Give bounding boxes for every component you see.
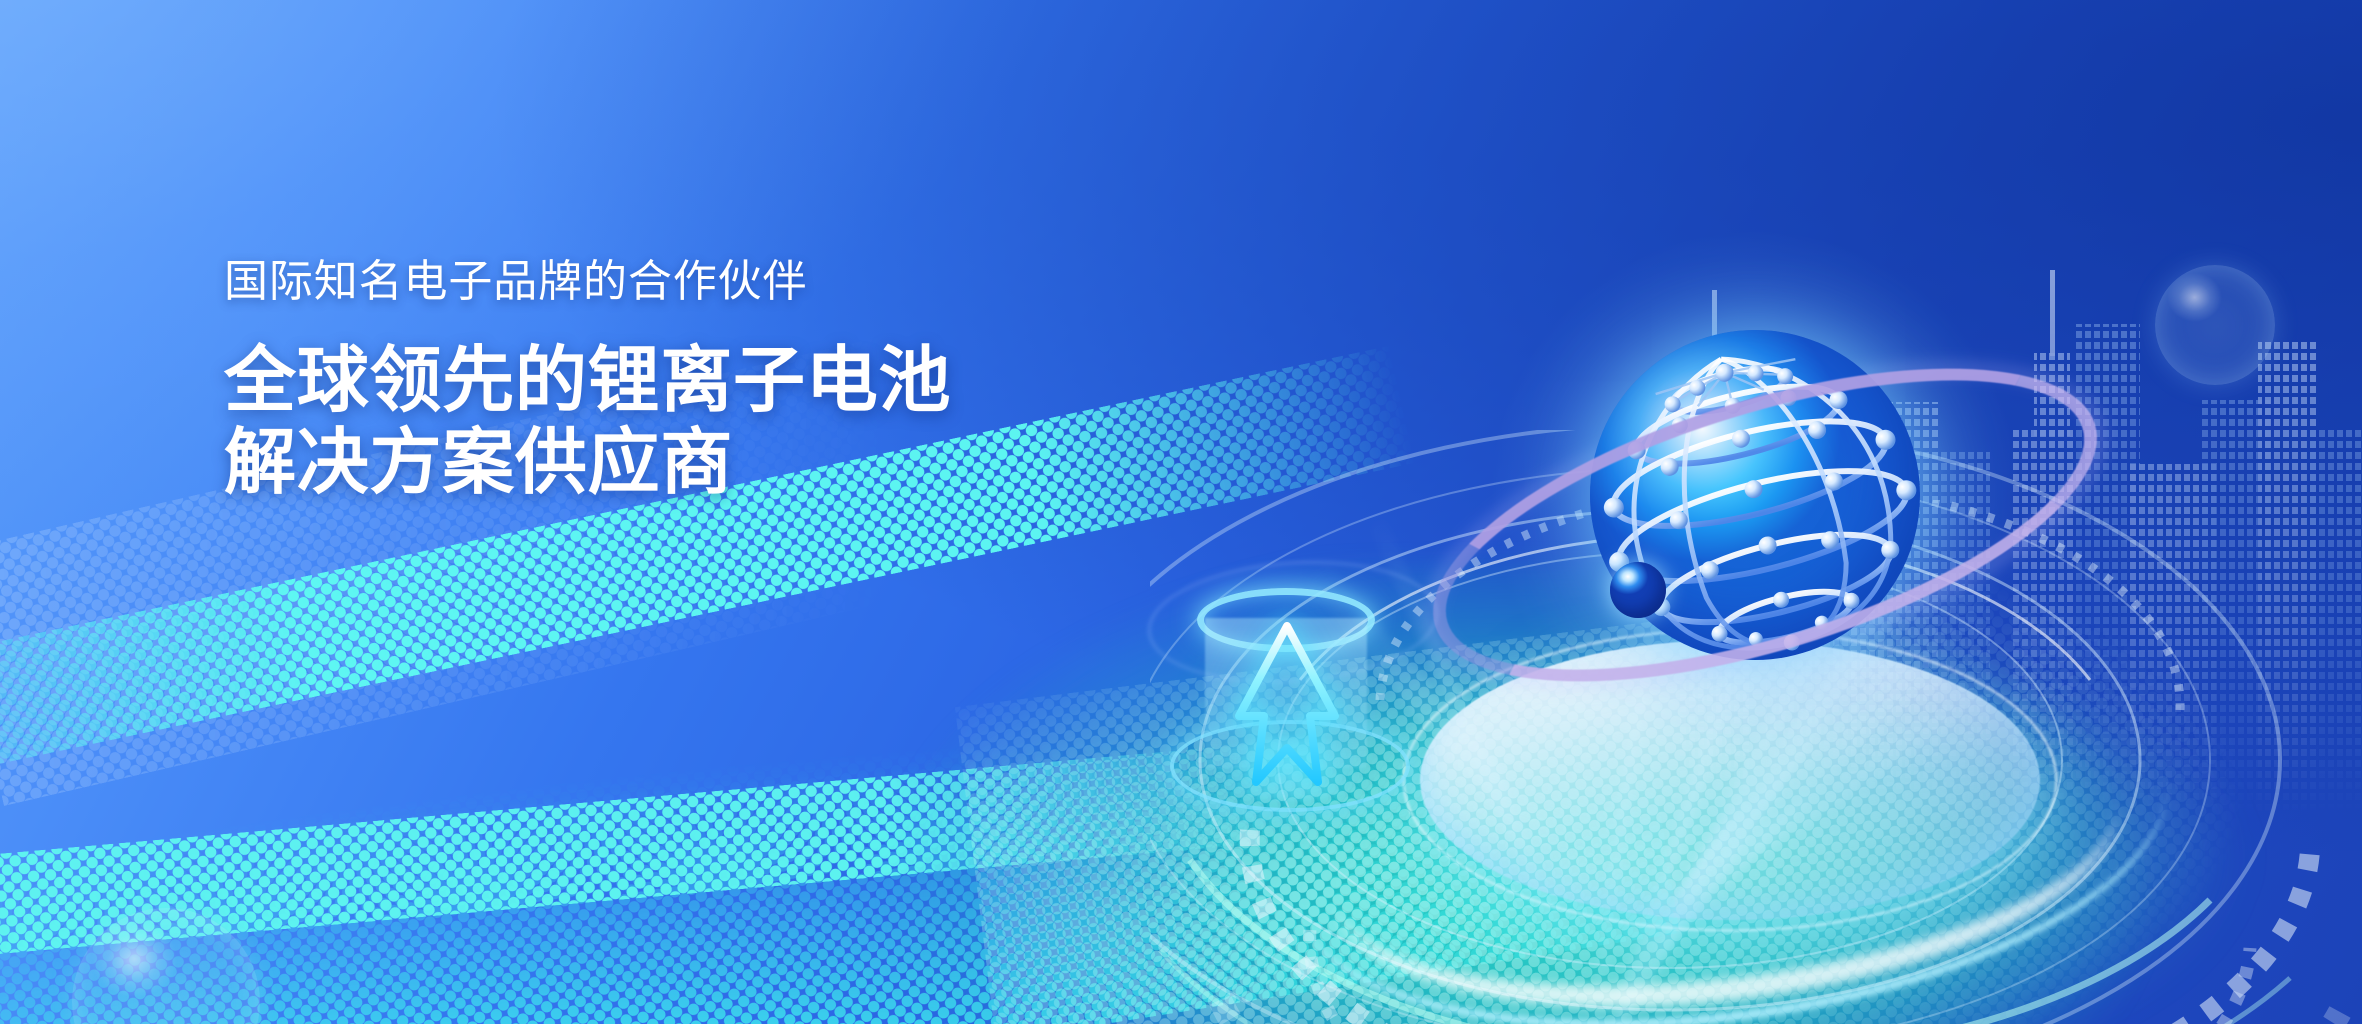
up-arrow-icon: [1232, 620, 1342, 790]
glass-bubble-bottom-left: [72, 908, 260, 1024]
hero-banner: 国际知名电子品牌的合作伙伴 全球领先的锂离子电池 解决方案供应商: [0, 0, 2362, 1024]
dot-wave-crest-lower: [0, 741, 1292, 958]
hero-subtitle: 国际知名电子品牌的合作伙伴: [224, 258, 1124, 306]
hero-copy: 国际知名电子品牌的合作伙伴 全球领先的锂离子电池 解决方案供应商: [224, 258, 1124, 505]
glass-bubble-top-right: [2155, 265, 2275, 385]
hero-headline: 全球领先的锂离子电池 解决方案供应商: [224, 340, 1124, 504]
hero-headline-line-1: 全球领先的锂离子电池: [224, 340, 1124, 422]
hero-headline-line-2: 解决方案供应商: [224, 422, 1124, 504]
orbit-node-sphere: [1610, 562, 1666, 618]
